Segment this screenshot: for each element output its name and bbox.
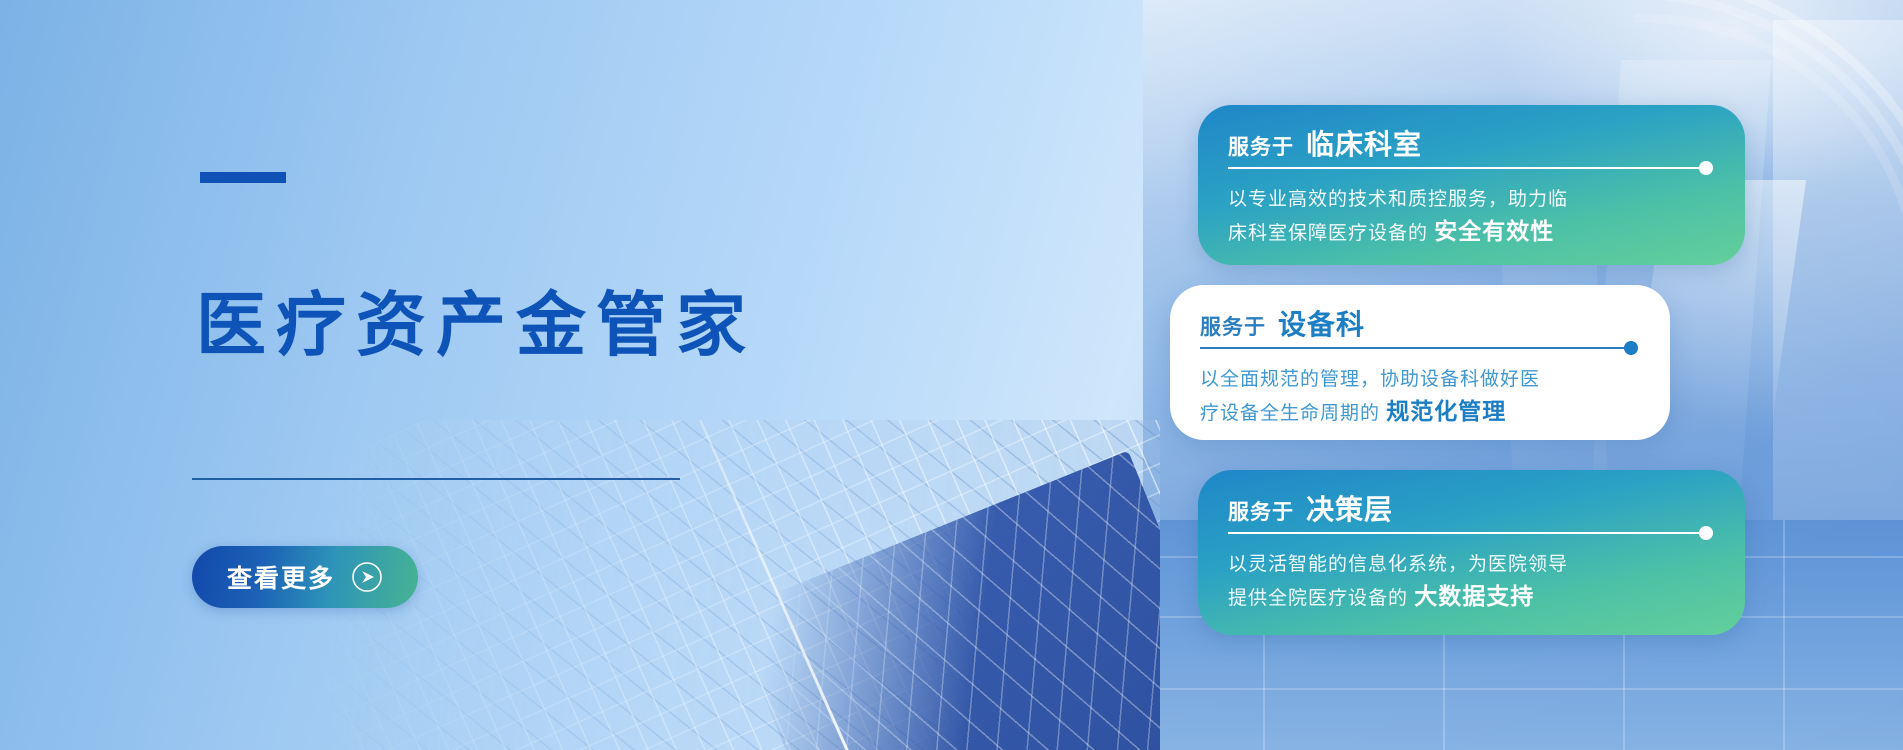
card-prefix: 服务于 bbox=[1228, 131, 1294, 161]
card-body-plain: 疗设备全生命周期的 bbox=[1200, 403, 1380, 424]
card-body: 以专业高效的技术和质控服务，助力临 床科室保障医疗设备的 安全有效性 bbox=[1228, 185, 1721, 250]
view-more-button[interactable]: 查看更多 bbox=[192, 546, 418, 608]
card-body-line1: 以专业高效的技术和质控服务，助力临 bbox=[1228, 185, 1721, 214]
card-rule-line bbox=[1228, 532, 1701, 534]
hero-banner: 医疗资产金管家 查看更多 服务于 临床科室 以专业高效的技术和质控服务，助力临 … bbox=[0, 0, 1903, 750]
card-heading: 服务于 临床科室 bbox=[1228, 123, 1422, 163]
card-department: 临床科室 bbox=[1306, 123, 1422, 163]
card-body-line2: 疗设备全生命周期的 规范化管理 bbox=[1200, 394, 1646, 430]
hero-left-panel: 医疗资产金管家 查看更多 bbox=[0, 0, 760, 750]
service-card-clinical[interactable]: 服务于 临床科室 以专业高效的技术和质控服务，助力临 床科室保障医疗设备的 安全… bbox=[1198, 105, 1745, 265]
card-rule bbox=[1228, 532, 1713, 534]
card-heading: 服务于 决策层 bbox=[1228, 488, 1393, 528]
card-body-line1: 以灵活智能的信息化系统，为医院领导 bbox=[1228, 550, 1721, 579]
card-body: 以灵活智能的信息化系统，为医院领导 提供全院医疗设备的 大数据支持 bbox=[1228, 550, 1721, 615]
card-rule-line bbox=[1200, 347, 1626, 349]
card-body-strong: 安全有效性 bbox=[1434, 218, 1554, 244]
card-body-line2: 提供全院医疗设备的 大数据支持 bbox=[1228, 579, 1721, 615]
card-body-plain: 床科室保障医疗设备的 bbox=[1228, 223, 1428, 244]
card-heading: 服务于 设备科 bbox=[1200, 303, 1365, 343]
card-department: 设备科 bbox=[1278, 303, 1365, 343]
card-rule bbox=[1228, 167, 1713, 169]
title-divider bbox=[192, 478, 680, 480]
arrow-right-circle-icon bbox=[351, 561, 383, 593]
card-body-line1: 以全面规范的管理，协助设备科做好医 bbox=[1200, 365, 1646, 394]
card-rule-dot-icon bbox=[1699, 526, 1713, 540]
facade-dark-wing bbox=[729, 450, 1160, 750]
card-body-line2: 床科室保障医疗设备的 安全有效性 bbox=[1228, 214, 1721, 250]
card-prefix: 服务于 bbox=[1228, 496, 1294, 526]
card-body-strong: 规范化管理 bbox=[1386, 398, 1506, 424]
card-rule-line bbox=[1228, 167, 1701, 169]
card-body: 以全面规范的管理，协助设备科做好医 疗设备全生命周期的 规范化管理 bbox=[1200, 365, 1646, 430]
card-body-strong: 大数据支持 bbox=[1414, 583, 1534, 609]
card-prefix: 服务于 bbox=[1200, 311, 1266, 341]
card-department: 决策层 bbox=[1306, 488, 1393, 528]
service-card-decision[interactable]: 服务于 决策层 以灵活智能的信息化系统，为医院领导 提供全院医疗设备的 大数据支… bbox=[1198, 470, 1745, 635]
view-more-label: 查看更多 bbox=[227, 559, 335, 595]
card-rule-dot-icon bbox=[1624, 341, 1638, 355]
card-rule-dot-icon bbox=[1699, 161, 1713, 175]
accent-bar bbox=[200, 172, 286, 183]
card-rule bbox=[1200, 347, 1638, 349]
card-body-plain: 提供全院医疗设备的 bbox=[1228, 588, 1408, 609]
page-title: 医疗资产金管家 bbox=[196, 290, 756, 360]
service-card-equipment[interactable]: 服务于 设备科 以全面规范的管理，协助设备科做好医 疗设备全生命周期的 规范化管… bbox=[1170, 285, 1670, 440]
